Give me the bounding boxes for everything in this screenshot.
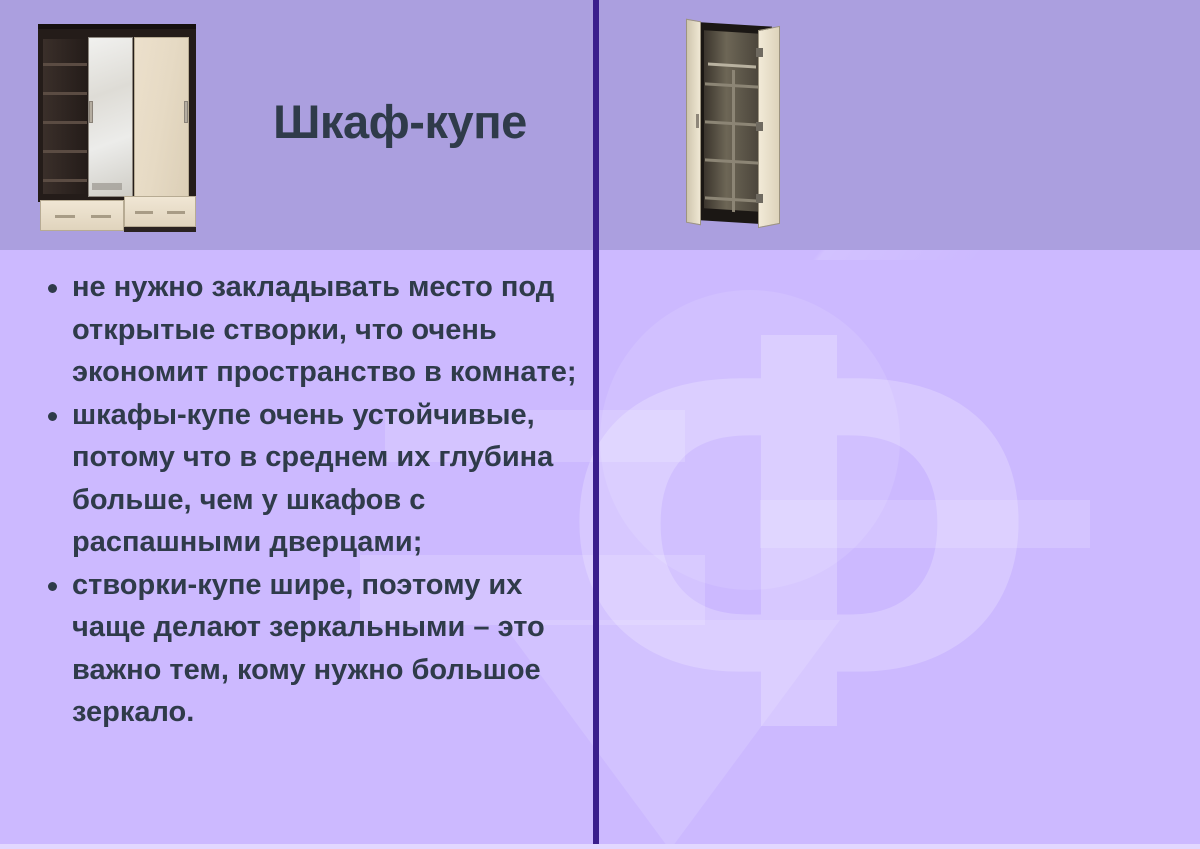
vertical-divider-panel <box>732 70 735 212</box>
bottom-edge-strip <box>0 844 1200 849</box>
shelf <box>43 121 87 124</box>
column-divider <box>593 0 599 849</box>
column-sliding-wardrobe: Шкаф-купе не нужно закладывать место под… <box>0 0 593 849</box>
shelf <box>43 92 87 95</box>
shelf <box>43 179 87 182</box>
drawer <box>124 196 196 227</box>
door-knob <box>696 114 699 128</box>
comparison-infographic: Ф <box>0 0 1200 849</box>
door-hinge <box>756 194 763 203</box>
drawer-handle <box>91 215 111 218</box>
benefits-list-sliding: не нужно закладывать место под открытые … <box>40 266 586 734</box>
heading-sliding-wardrobe: Шкаф-купе <box>215 96 585 149</box>
door-handle <box>89 101 93 123</box>
mirror-door-panel <box>88 37 133 197</box>
column-hinged-wardrobe: Шкаф с распашными дверцами простая сборк… <box>599 0 1200 849</box>
drawer <box>40 200 124 231</box>
column-header-sliding: Шкаф-купе <box>0 0 593 250</box>
wardrobe-carcass <box>38 24 196 202</box>
door-hinge <box>756 48 763 57</box>
door-hinge <box>756 122 763 131</box>
door-handle <box>184 101 188 123</box>
column-header-hinged: Шкаф с распашными дверцами <box>599 0 1200 250</box>
list-item: не нужно закладывать место под открытые … <box>40 266 586 394</box>
list-item: створки-купе шире, поэтому их чаще делаю… <box>40 564 586 734</box>
list-item: шкафы-купе очень устойчивые, потому что … <box>40 394 586 564</box>
drawer-handle <box>135 211 153 214</box>
drawer-handle <box>55 215 75 218</box>
sliding-door-panel <box>134 37 189 197</box>
shelf <box>43 63 87 66</box>
sliding-door-wardrobe-image <box>38 24 196 230</box>
drawer-handle <box>167 211 185 214</box>
hinged-door-wardrobe-image <box>672 18 792 230</box>
wardrobe-plinth <box>124 227 196 232</box>
shelf <box>43 150 87 153</box>
